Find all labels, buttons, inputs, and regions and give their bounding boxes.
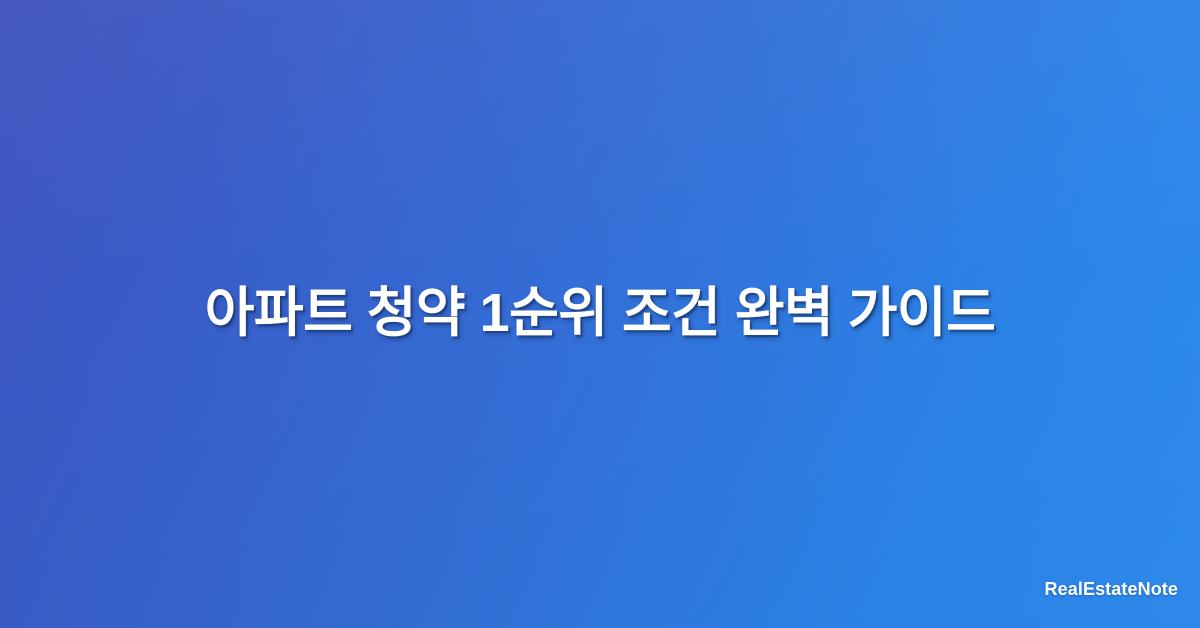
og-banner: 아파트 청약 1순위 조건 완벽 가이드 RealEstateNote	[0, 0, 1200, 628]
site-watermark: RealEstateNote	[1045, 580, 1178, 598]
page-title: 아파트 청약 1순위 조건 완벽 가이드	[205, 279, 996, 348]
headline-container: 아파트 청약 1순위 조건 완벽 가이드	[0, 0, 1200, 628]
